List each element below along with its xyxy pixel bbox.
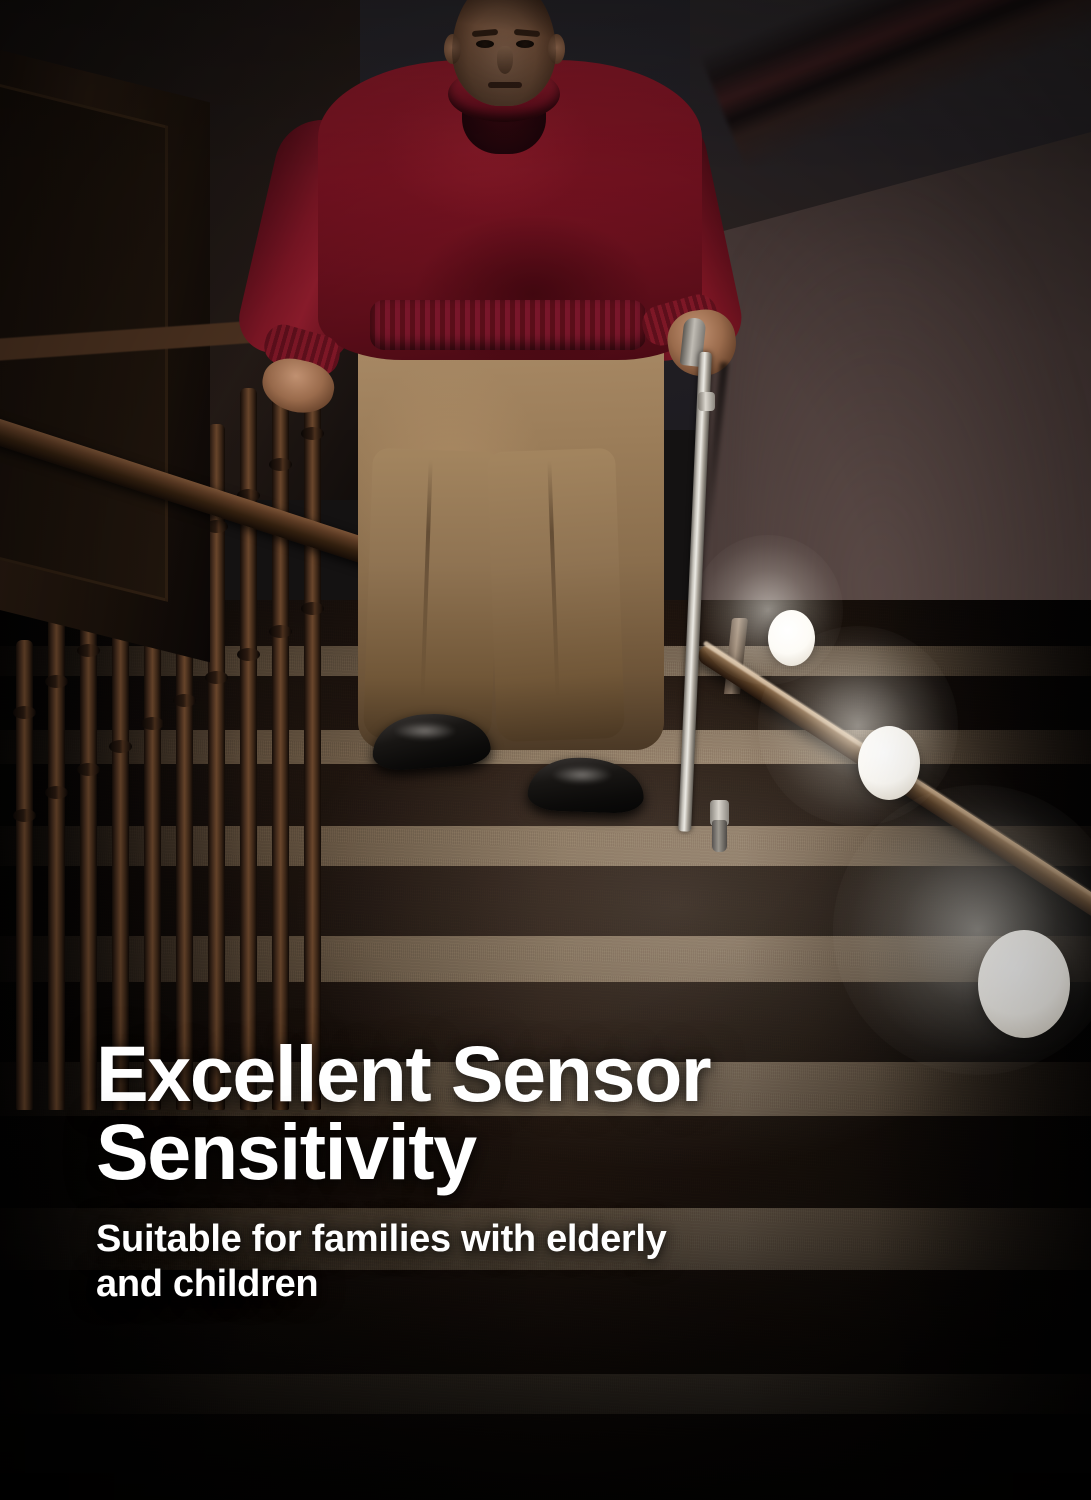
right-shoe — [527, 756, 645, 814]
led-puck-light-near[interactable] — [978, 930, 1070, 1038]
sweater-hem — [370, 300, 646, 350]
stair-tread — [0, 1374, 1091, 1414]
left-leg — [363, 448, 501, 742]
cane-collar — [698, 392, 715, 411]
left-shoe-highlight — [394, 722, 456, 740]
right-shoe-highlight — [552, 766, 612, 784]
cane-tip — [712, 820, 727, 852]
stair-riser — [0, 1414, 1091, 1500]
marketing-text-block: Excellent Sensor Sensitivity Suitable fo… — [96, 1035, 976, 1306]
elderly-man — [0, 0, 1091, 900]
face-shadow — [452, 0, 556, 106]
subheadline: Suitable for families with elderly and c… — [96, 1217, 976, 1306]
right-leg — [487, 448, 625, 742]
headline: Excellent Sensor Sensitivity — [96, 1035, 976, 1191]
product-lifestyle-image: Excellent Sensor Sensitivity Suitable fo… — [0, 0, 1091, 1500]
